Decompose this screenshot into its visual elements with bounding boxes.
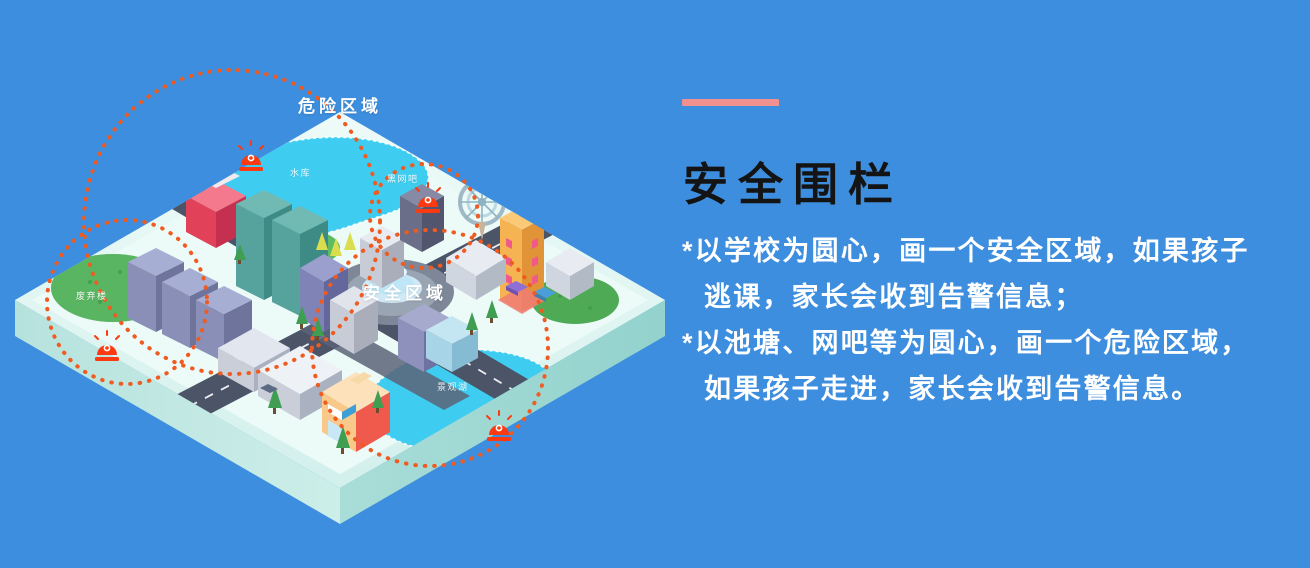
page-title: 安全围栏 <box>683 158 903 212</box>
city-map-svg <box>0 0 700 568</box>
isometric-city-illustration: 危险区域 安全区域 水库 黑网吧 废弃楼 景观湖 <box>0 0 700 568</box>
slide-root: 危险区域 安全区域 水库 黑网吧 废弃楼 景观湖 安全围栏 *以学校为圆心，画一… <box>0 0 1310 568</box>
bullet-text: 以学校为圆心，画一个安全区域，如果孩子逃课，家长会收到告警信息； <box>695 236 1250 312</box>
bullet-marker: * <box>682 328 695 358</box>
bullet-list: *以学校为圆心，画一个安全区域，如果孩子逃课，家长会收到告警信息； *以池塘、网… <box>682 228 1267 412</box>
buildings-east <box>446 176 594 314</box>
bullet-item: *以池塘、网吧等为圆心，画一个危险区域，如果孩子走进，家长会收到告警信息。 <box>682 320 1267 412</box>
black-internet-cafe-building <box>400 184 444 252</box>
accent-bar <box>682 99 779 106</box>
bullet-marker: * <box>682 236 695 266</box>
bullet-item: *以学校为圆心，画一个安全区域，如果孩子逃课，家长会收到告警信息； <box>682 228 1267 320</box>
bullet-text: 以池塘、网吧等为圆心，画一个危险区域，如果孩子走进，家长会收到告警信息。 <box>695 328 1250 404</box>
content-panel: 安全围栏 *以学校为圆心，画一个安全区域，如果孩子逃课，家长会收到告警信息； *… <box>682 0 1282 568</box>
